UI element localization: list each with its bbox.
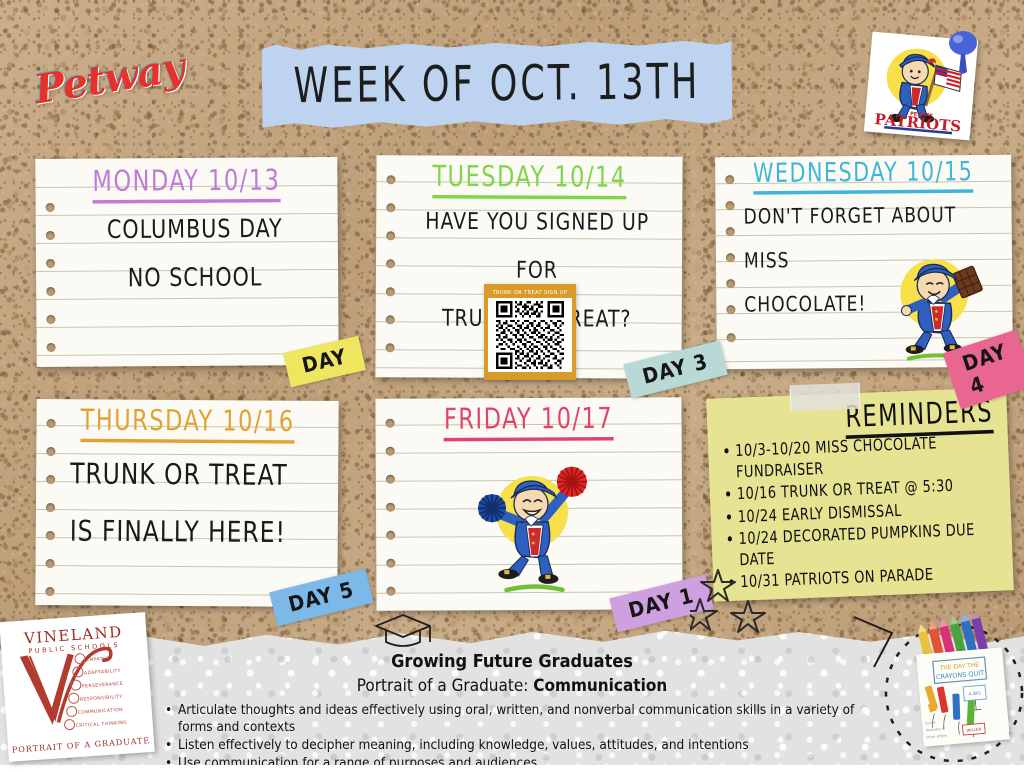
graduation-cap-icon <box>372 612 434 650</box>
svg-text:A BIG: A BIG <box>968 690 981 697</box>
pushpin-icon <box>945 30 981 74</box>
reminders-tape <box>790 383 861 411</box>
day-card-wednesday[interactable]: WEDNESDAY 10/15 DON'T FORGET ABOUT MISS … <box>715 155 1013 370</box>
day-heading-tuesday: TUESDAY 10/14 <box>376 159 682 194</box>
star-doodles-icon <box>690 565 800 635</box>
day-body-monday: COLUMBUS DAY NO SCHOOL <box>64 205 327 304</box>
vineland-checkmark-v-icon <box>7 640 152 749</box>
portrait-bullet: Listen effectively to decipher meaning, … <box>165 737 865 754</box>
day-card-thursday[interactable]: THURSDAY 10/16 TRUNK OR TREAT IS FINALLY… <box>35 399 338 607</box>
day-heading-thursday: THURSDAY 10/16 <box>36 403 338 438</box>
qr-label: TRUNK OR TREAT SIGN UP <box>488 288 572 298</box>
portrait-trait: Communication <box>533 676 667 696</box>
day-card-monday[interactable]: MONDAY 10/13 COLUMBUS DAY NO SCHOOL <box>35 157 338 367</box>
day-heading-monday: MONDAY 10/13 <box>35 163 337 198</box>
day-heading-wednesday: WEDNESDAY 10/15 <box>715 157 1011 189</box>
page-title: WEEK OF OCT. 13TH <box>293 54 700 115</box>
day-heading-friday: FRIDAY 10/17 <box>375 401 681 436</box>
qr-code-signup[interactable]: TRUNK OR TREAT SIGN UP <box>484 284 576 380</box>
day-body-thursday: TRUNK OR TREAT IS FINALLY HERE! <box>70 446 327 562</box>
day-card-friday[interactable]: FRIDAY 10/17 <box>375 397 682 611</box>
patriot-cheerleader-illustration <box>462 450 613 603</box>
crayon-book-illustration: THE DAY THE CRAYONS QUIT A BIG WILLER by… <box>916 647 1010 746</box>
portrait-prefix: Portrait of a Graduate: <box>357 676 534 696</box>
portrait-bullet: Use communication for a range of purpose… <box>165 755 865 772</box>
vineland-public-schools-logo: VINELAND PUBLIC SCHOOLS EMPATHY ADAPTABI… <box>0 612 155 762</box>
qr-code-image <box>488 298 572 372</box>
portrait-bullets: Articulate thoughts and ideas effectivel… <box>165 702 865 772</box>
portrait-bullet: Articulate thoughts and ideas effectivel… <box>165 702 865 736</box>
week-banner: WEEK OF OCT. 13TH <box>262 40 733 129</box>
crayon-book-cover: THE DAY THE CRAYONS QUIT A BIG WILLER by… <box>916 647 1010 746</box>
